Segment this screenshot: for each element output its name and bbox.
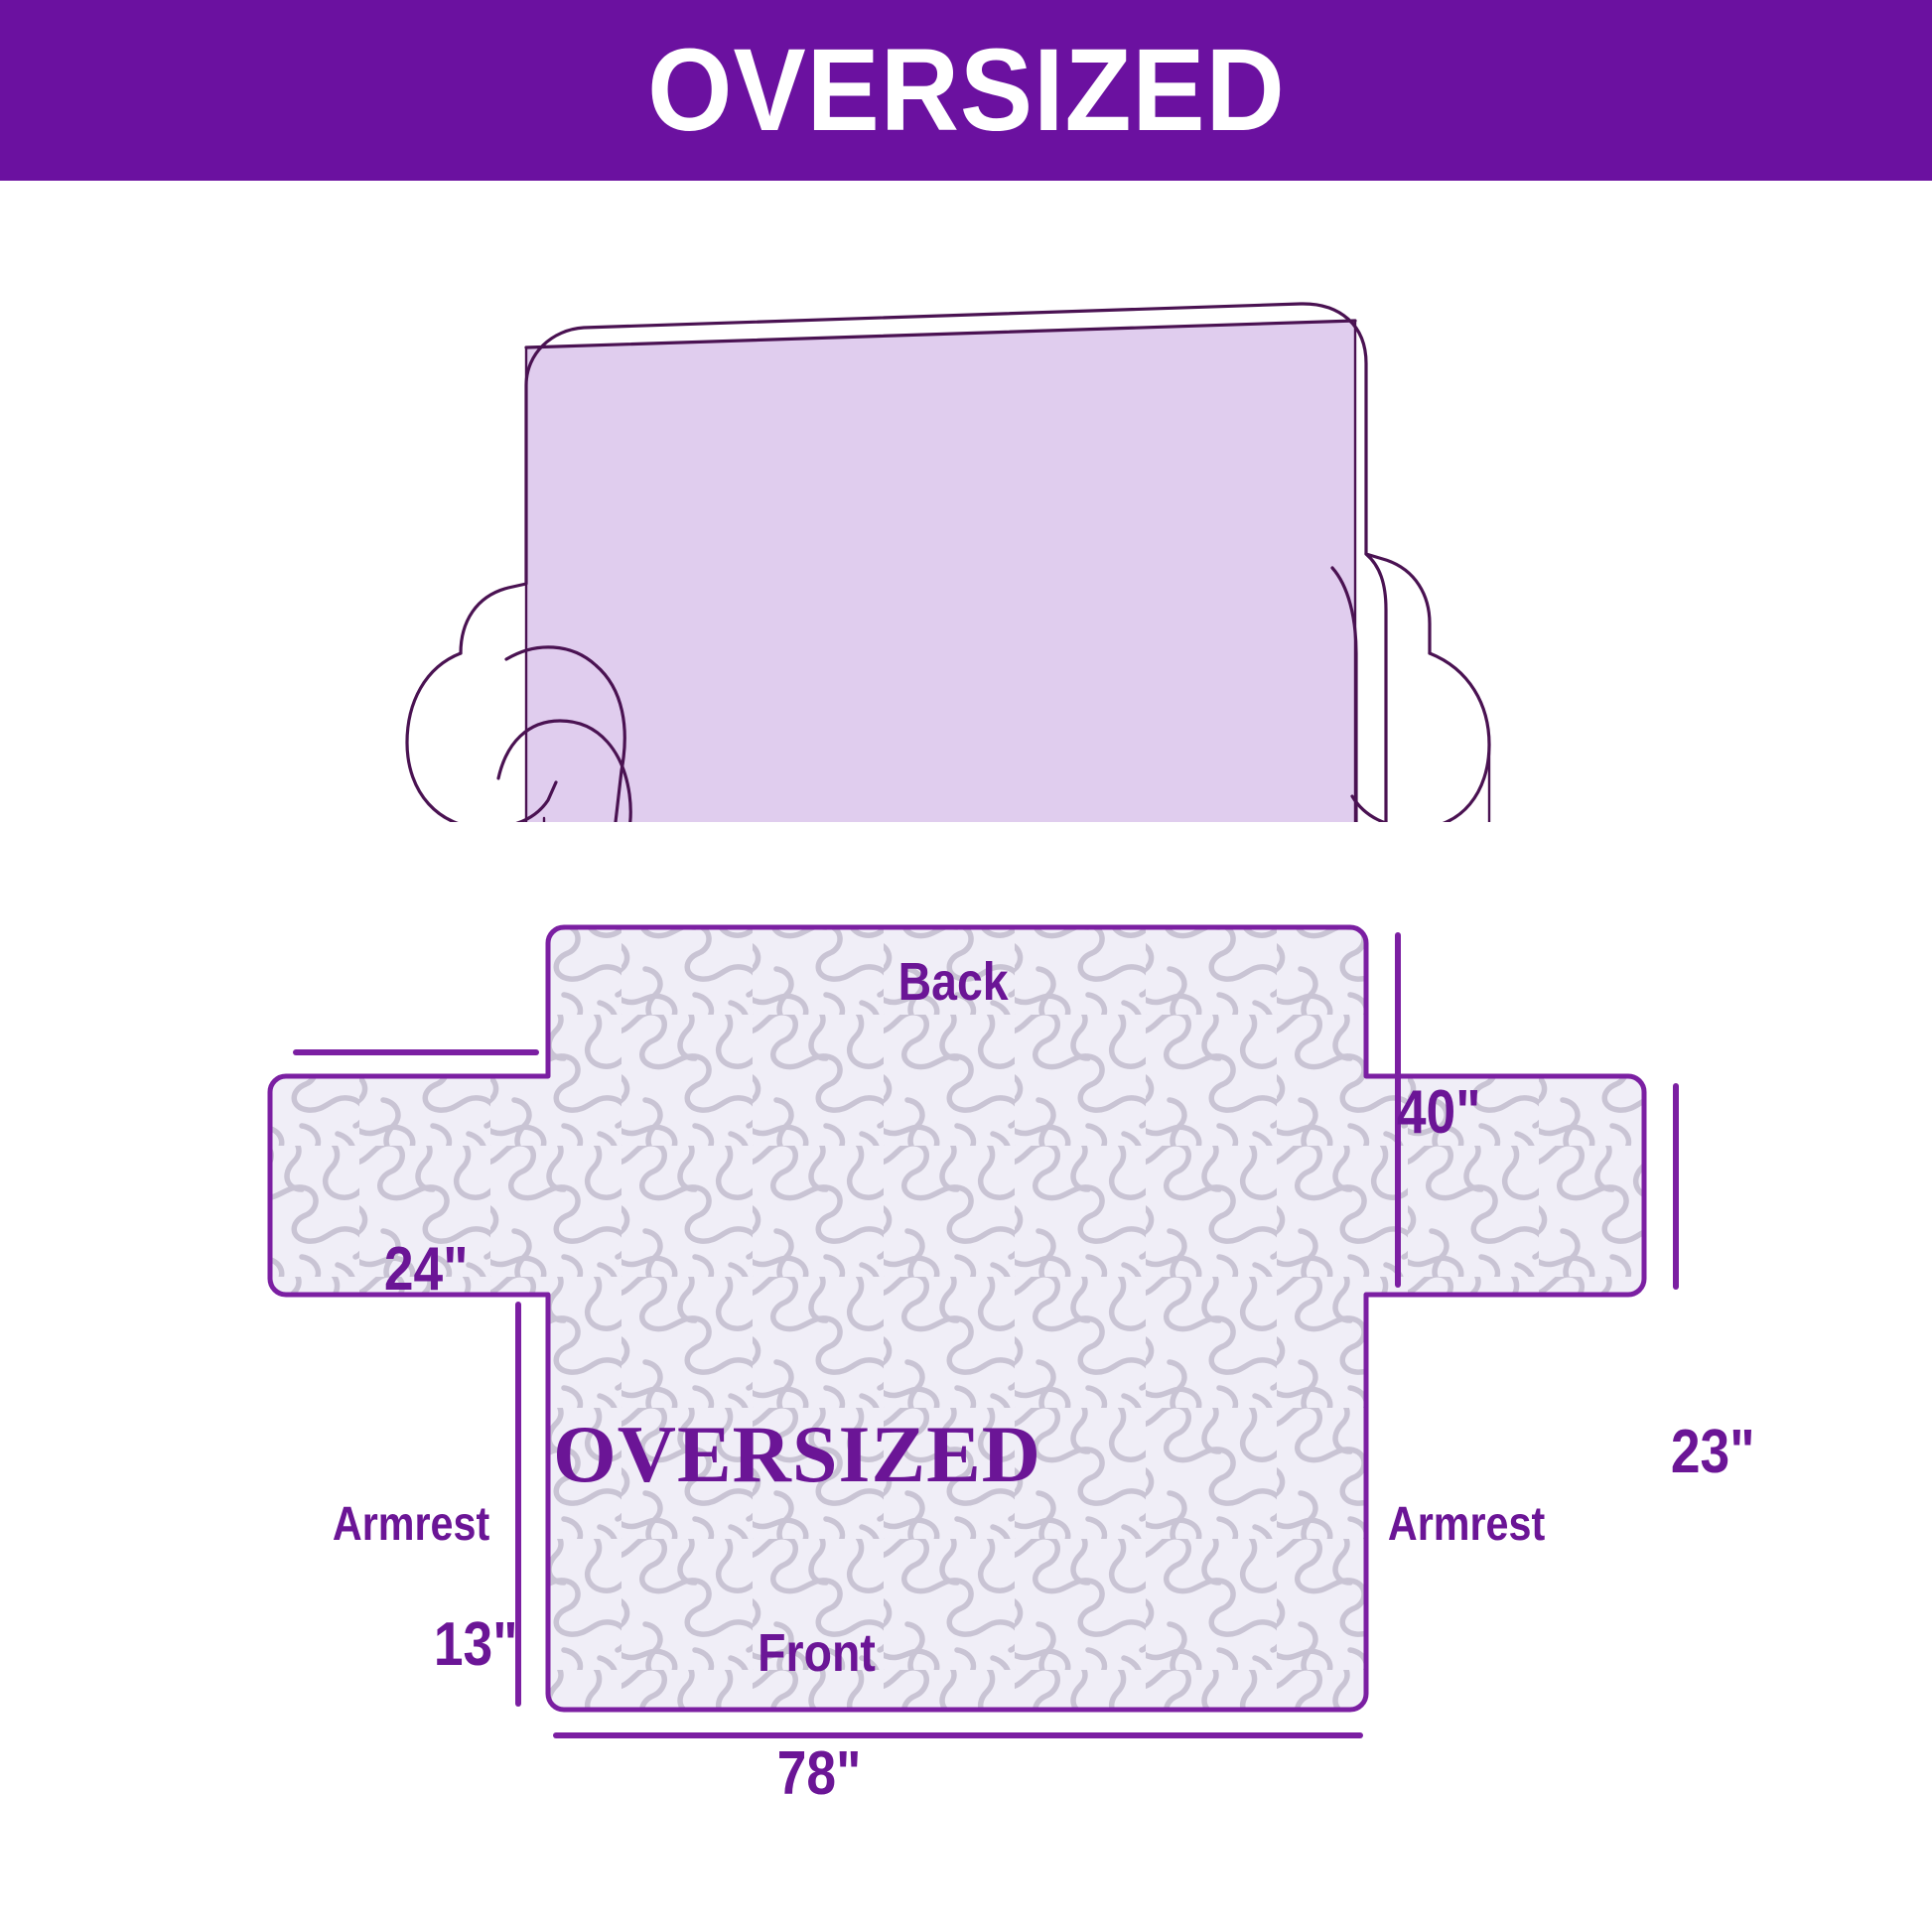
dimension-label-back-side-width: 24" bbox=[384, 1239, 469, 1301]
banner-title: OVERSIZED bbox=[647, 32, 1286, 149]
dimension-label-back-height: 40" bbox=[1397, 1082, 1481, 1144]
dimension-label-front-flap: 13" bbox=[434, 1614, 518, 1676]
sofa-line-drawing: .so { fill:none; stroke:#4a1252; stroke-… bbox=[377, 226, 1598, 822]
sofa-illustration: .so { fill:none; stroke:#4a1252; stroke-… bbox=[377, 226, 1598, 822]
label-back-panel: Back bbox=[135, 955, 1797, 1009]
label-armrest-right: Armrest bbox=[1388, 1501, 1545, 1549]
label-armrest-left: Armrest bbox=[333, 1501, 489, 1549]
label-front-panel: Front bbox=[135, 1626, 1797, 1680]
slipcover-outline bbox=[270, 927, 1644, 1710]
dimension-label-armrest-depth: 23" bbox=[1671, 1422, 1755, 1483]
label-oversized-center: OVERSIZED bbox=[0, 1414, 1932, 1495]
sofa-right-arm-roll bbox=[1352, 653, 1489, 822]
dimension-label-front-width: 78" bbox=[135, 1743, 1797, 1805]
header-banner: OVERSIZED bbox=[0, 0, 1932, 181]
sofa-back-cover bbox=[526, 321, 1355, 822]
sofa-right-arm-inner bbox=[1366, 554, 1386, 822]
